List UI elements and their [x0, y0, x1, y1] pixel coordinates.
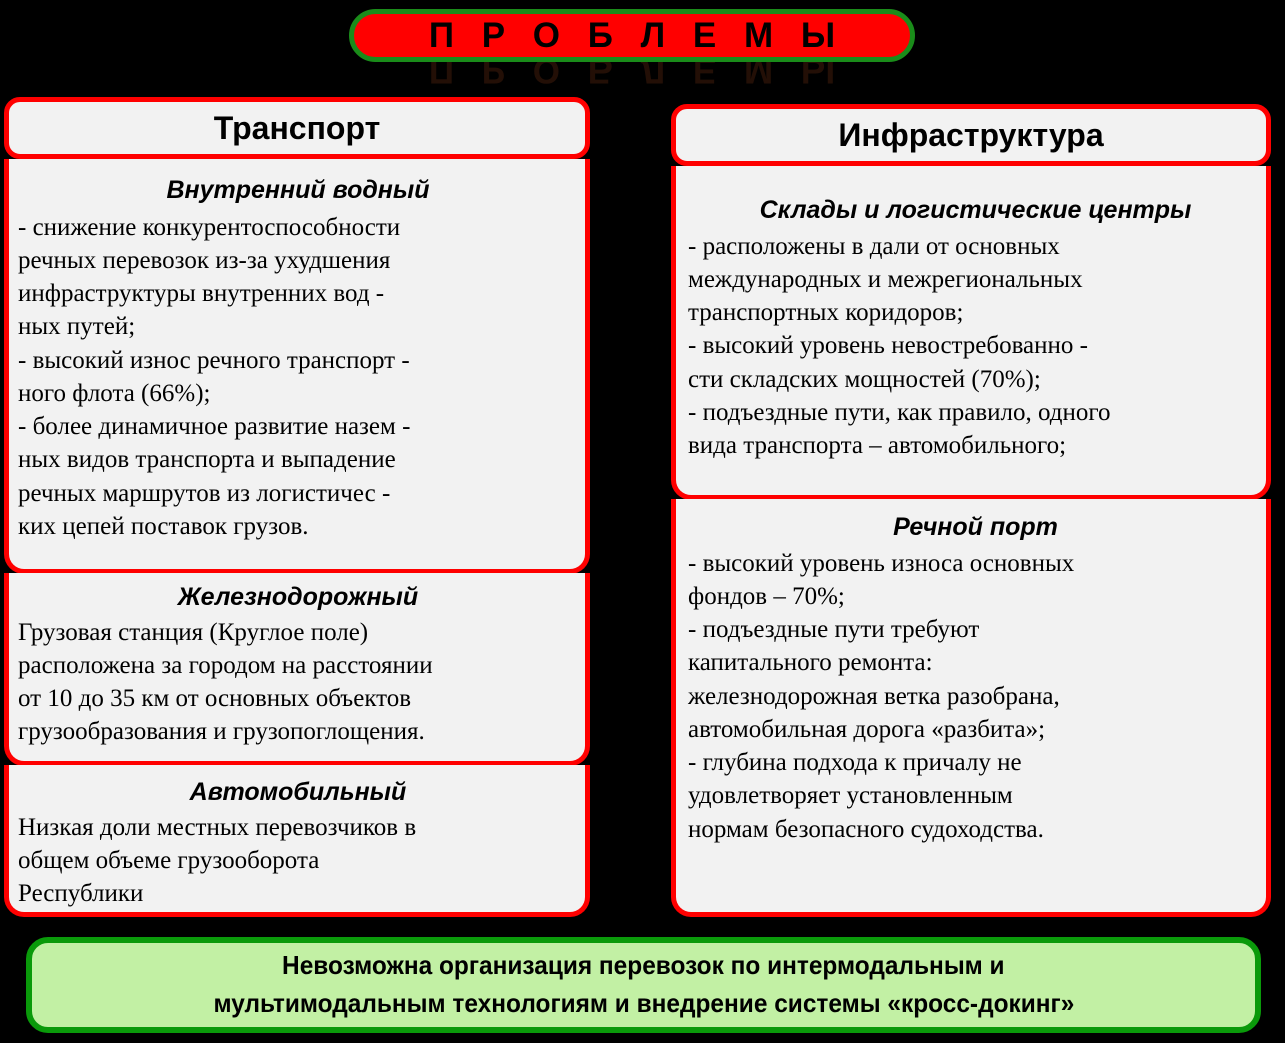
subtitle-railway: Железнодорожный	[18, 583, 578, 613]
subtitle-river-port: Речной порт	[688, 513, 1263, 543]
section-river-port: Речной порт - высокий уровень износа осн…	[688, 513, 1263, 846]
body-road: Низкая доли местных перевозчиков в общем…	[18, 811, 578, 911]
body-inland-water: - снижение конкурентоспособности речных …	[18, 211, 578, 544]
section-warehouses: Склады и логистические центры - располож…	[688, 196, 1263, 462]
footer-line-2: мультимодальным технологиям и внедрение …	[213, 985, 1074, 1023]
page-title: П Р О Б Л Е М Ы	[420, 18, 844, 53]
body-warehouses: - расположены в дали от основных междуна…	[688, 230, 1263, 463]
subtitle-warehouses: Склады и логистические центры	[688, 196, 1263, 226]
column-header-transport-label: Транспорт	[214, 112, 380, 144]
body-railway: Грузовая станция (Круглое поле) располож…	[18, 616, 578, 749]
section-road: Автомобильный Низкая доли местных перево…	[18, 778, 578, 910]
body-river-port: - высокий уровень износа основных фондов…	[688, 547, 1263, 846]
column-header-infrastructure: Инфраструктура	[671, 104, 1271, 166]
section-inland-water: Внутренний водный - снижение конкурентос…	[18, 176, 578, 543]
column-header-transport: Транспорт	[4, 97, 590, 159]
footer-line-1: Невозможна организация перевозок по инте…	[282, 947, 1005, 985]
subtitle-inland-water: Внутренний водный	[18, 176, 578, 206]
column-header-infrastructure-label: Инфраструктура	[838, 119, 1103, 151]
section-railway: Железнодорожный Грузовая станция (Кругло…	[18, 583, 578, 749]
footer-banner: Невозможна организация перевозок по инте…	[26, 937, 1261, 1033]
subtitle-road: Автомобильный	[18, 778, 578, 808]
title-banner: П Р О Б Л Е М Ы	[349, 9, 915, 62]
